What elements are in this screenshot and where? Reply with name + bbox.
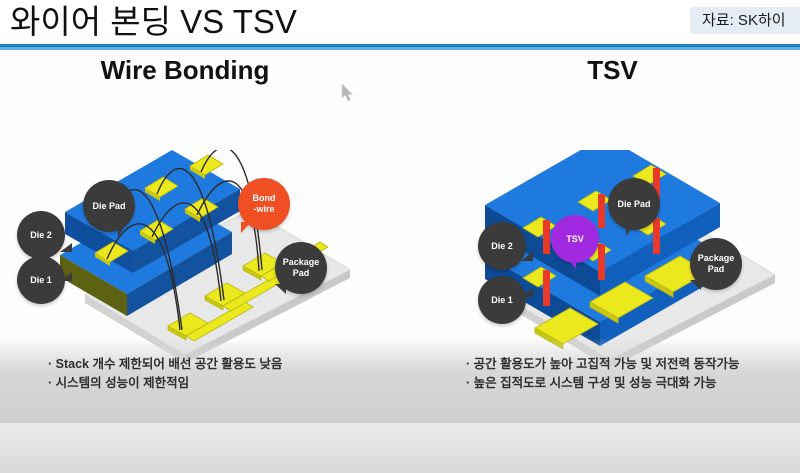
bubble-bond-wire-label: Bond -wire <box>253 193 276 215</box>
bubble-package-pad-left-label: Package Pad <box>283 257 320 279</box>
bubble-die2-left: Die 2 <box>17 211 65 259</box>
bubble-tsv: TSV <box>551 215 599 263</box>
bubble-die1-right-tail <box>521 288 533 297</box>
tsv-bullet-1: · 공간 활용도가 높아 고집적 가능 및 저전력 동작가능 <box>466 355 739 374</box>
bubble-die-pad-right-tail <box>626 224 634 236</box>
bubble-die1-left: Die 1 <box>17 256 65 304</box>
bubble-package-pad-right-tail <box>690 280 701 290</box>
bubble-die2-left-label: Die 2 <box>30 230 52 241</box>
wire-bonding-bullet-2: · 시스템의 성능이 제한적임 <box>48 374 282 393</box>
page-title: 와이어 본딩 VS TSV <box>10 0 297 45</box>
bubble-die-pad-right-label: Die Pad <box>617 199 650 210</box>
bubble-die2-right-tail <box>521 252 533 261</box>
bubble-package-pad-left-tail <box>275 284 286 294</box>
bubble-die1-right: Die 1 <box>478 276 526 324</box>
tsv-bullets: · 공간 활용도가 높아 고집적 가능 및 저전력 동작가능 · 높은 집적도로… <box>466 355 739 393</box>
source-badge: 자료: SK하이 <box>690 7 800 34</box>
wire-bonding-bullet-1: · Stack 개수 제한되어 배선 공간 활용도 낮음 <box>48 355 282 374</box>
bubble-die-pad-left-tail <box>118 227 124 237</box>
bubble-die1-right-label: Die 1 <box>491 295 513 306</box>
tsv-bullet-2: · 높은 집적도로 시스템 구성 및 성능 극대화 가능 <box>466 374 739 393</box>
bubble-package-pad-right-label: Package Pad <box>698 253 735 275</box>
bubble-tsv-tail <box>567 258 576 269</box>
bubble-die1-left-label: Die 1 <box>30 275 52 286</box>
bubble-die2-left-tail <box>60 243 72 252</box>
bubble-die2-right-label: Die 2 <box>491 241 513 252</box>
source-label: 자료: SK하이 <box>702 10 786 32</box>
bubble-die-pad-left-label: Die Pad <box>92 201 125 212</box>
bubble-die-pad-right: Die Pad <box>608 178 660 230</box>
wire-bonding-bullets: · Stack 개수 제한되어 배선 공간 활용도 낮음 · 시스템의 성능이 … <box>48 355 282 393</box>
bubble-die1-left-tail <box>60 272 72 281</box>
bubble-bond-wire-tail <box>241 222 251 233</box>
wire-bonding-title: Wire Bonding <box>90 55 280 86</box>
tsv-title: TSV <box>540 55 685 86</box>
slide-header: 와이어 본딩 VS TSV 자료: SK하이 <box>0 0 800 46</box>
bubble-die-pad-left: Die Pad <box>83 180 135 232</box>
bubble-tsv-label: TSV <box>566 234 584 245</box>
mouse-cursor-icon <box>341 84 355 102</box>
bubble-die2-right: Die 2 <box>478 222 526 270</box>
slide-canvas: 와이어 본딩 VS TSV 자료: SK하이 Wire Bonding TSV <box>0 0 800 473</box>
